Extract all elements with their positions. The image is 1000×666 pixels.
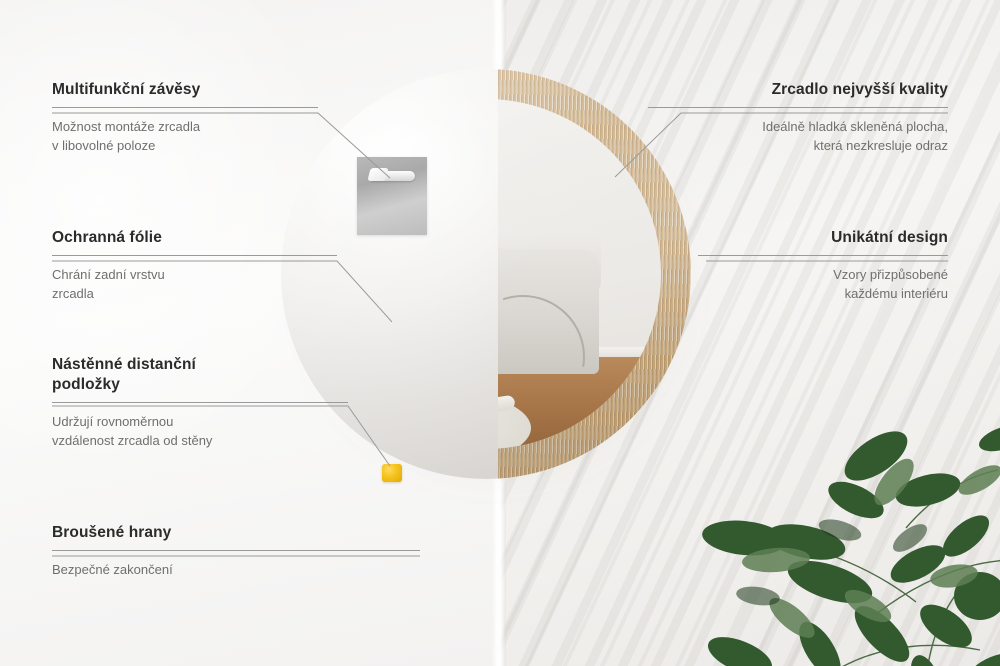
callout-divider bbox=[648, 107, 948, 108]
callout-description-line1: Možnost montáže zrcadla bbox=[52, 117, 302, 136]
wall-spacer-pad bbox=[382, 464, 402, 482]
callout-polished-edges: Broušené hrany Bezpečné zakončení bbox=[52, 523, 312, 579]
callout-description-line1: Ideálně hladká skleněná plocha, bbox=[648, 117, 948, 136]
callout-title: Unikátní design bbox=[698, 228, 948, 248]
callout-title-line2: podložky bbox=[52, 375, 312, 395]
callout-title-line1: Nástěnné distanční bbox=[52, 355, 312, 375]
callout-description-line2: která nezkresluje odraz bbox=[648, 136, 948, 155]
callout-description-line2: zrcadla bbox=[52, 284, 302, 303]
callout-description-line2: vzdálenost zrcadla od stěny bbox=[52, 431, 312, 450]
callout-divider bbox=[52, 255, 337, 256]
callout-highest-quality-mirror: Zrcadlo nejvyšší kvality Ideálně hladká … bbox=[648, 80, 948, 155]
callout-protective-foil: Ochranná fólie Chrání zadní vrstvu zrcad… bbox=[52, 228, 302, 303]
mirror-circle bbox=[281, 69, 691, 479]
callout-description-line2: v libovolné poloze bbox=[52, 136, 302, 155]
callout-title: Ochranná fólie bbox=[52, 228, 302, 248]
callout-divider bbox=[52, 107, 318, 108]
callout-title: Multifunkční závěsy bbox=[52, 80, 302, 100]
callout-unique-design: Unikátní design Vzory přizpůsobené každé… bbox=[698, 228, 948, 303]
hanger-clip-bracket bbox=[371, 171, 415, 181]
callout-description-line1: Bezpečné zakončení bbox=[52, 560, 312, 579]
infographic-canvas: Multifunkční závěsy Možnost montáže zrca… bbox=[0, 0, 1000, 666]
callout-divider bbox=[52, 550, 420, 551]
plant-foliage bbox=[680, 350, 1000, 666]
callout-divider bbox=[52, 402, 348, 403]
callout-description-line1: Chrání zadní vrstvu bbox=[52, 265, 302, 284]
callout-description-line1: Vzory přizpůsobené bbox=[698, 265, 948, 284]
callout-title: Broušené hrany bbox=[52, 523, 312, 543]
callout-title: Zrcadlo nejvyšší kvality bbox=[648, 80, 948, 100]
mirror-product bbox=[281, 69, 691, 479]
callout-divider bbox=[698, 255, 948, 256]
callout-wall-spacers: Nástěnné distanční podložky Udržují rovn… bbox=[52, 355, 312, 450]
callout-description-line2: každému interiéru bbox=[698, 284, 948, 303]
hanger-plate bbox=[357, 157, 427, 235]
callout-multifunctional-hangers: Multifunkční závěsy Možnost montáže zrca… bbox=[52, 80, 302, 155]
callout-description-line1: Udržují rovnoměrnou bbox=[52, 412, 312, 431]
